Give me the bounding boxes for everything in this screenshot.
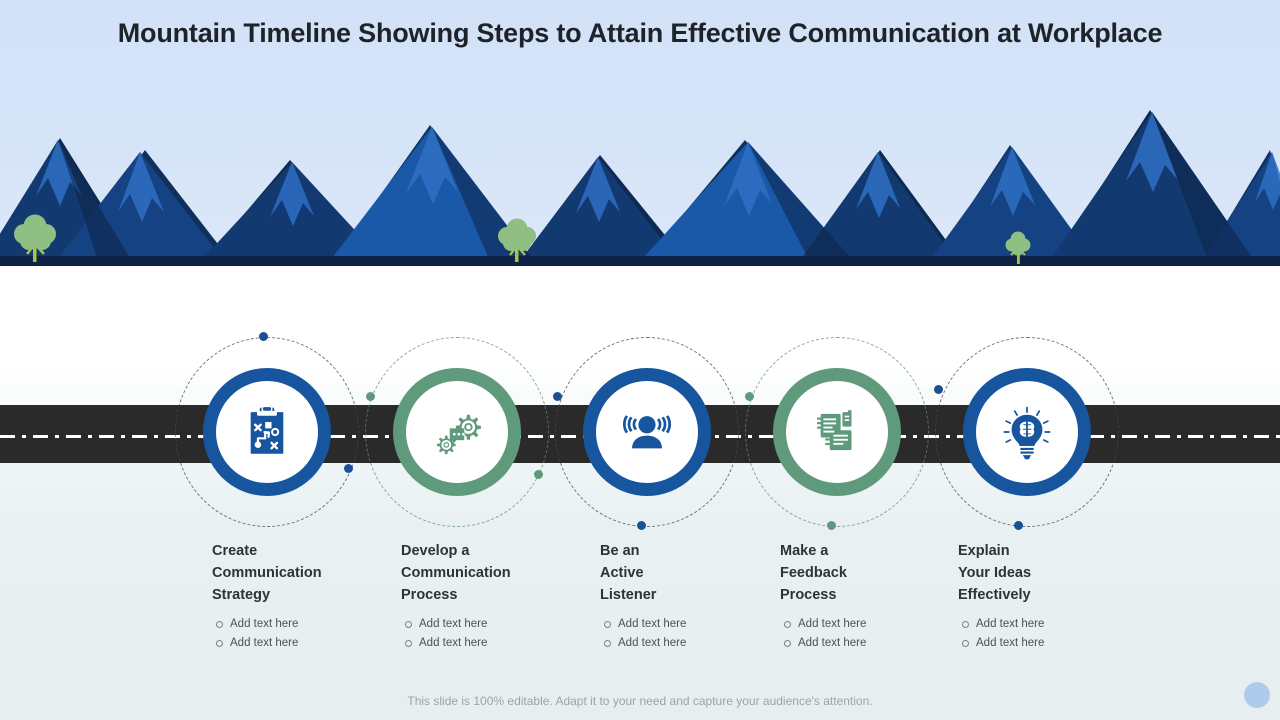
step-bullets-1: Add text here Add text here [212,615,387,652]
step-caption-5: Explain Your Ideas Effectively Add text … [958,540,1133,652]
step-heading-line: Listener [600,587,656,603]
list-item: Add text here [958,615,1133,634]
timeline-node-5[interactable] [963,368,1091,496]
step-heading-line: Create [212,543,257,559]
orbit-dot-1-right [344,464,353,473]
timeline-node-1[interactable] [203,368,331,496]
documents-feedback-icon [808,403,866,461]
step-heading-line: Active [600,565,644,581]
step-heading-5: Explain Your Ideas Effectively [958,540,1133,606]
step-caption-2: Develop a Communication Process Add text… [401,540,576,652]
timeline-node-3[interactable] [583,368,711,496]
step-heading-line: Your Ideas [958,565,1031,581]
step-heading-line: Be an [600,543,640,559]
step-bullets-4: Add text here Add text here [780,615,955,652]
step-heading-4: Make a Feedback Process [780,540,955,606]
step-heading-3: Be an Active Listener [600,540,775,606]
lightbulb-brain-icon [998,403,1056,461]
corner-decoration-dot [1244,682,1270,708]
timeline-node-2[interactable] [393,368,521,496]
step-bullets-5: Add text here Add text here [958,615,1133,652]
orbit-dot-5-left [934,385,943,394]
list-item: Add text here [780,634,955,653]
step-caption-4: Make a Feedback Process Add text here Ad… [780,540,955,652]
list-item: Add text here [212,615,387,634]
step-heading-line: Effectively [958,587,1031,603]
step-heading-line: Develop a [401,543,470,559]
step-caption-1: Create Communication Strategy Add text h… [212,540,387,652]
gears-process-icon [428,403,486,461]
step-heading-2: Develop a Communication Process [401,540,576,606]
list-item: Add text here [401,634,576,653]
step-heading-1: Create Communication Strategy [212,540,387,606]
orbit-dot-5-bottom [1014,521,1023,530]
slide-canvas: Mountain Timeline Showing Steps to Attai… [0,0,1280,720]
list-item: Add text here [958,634,1133,653]
step-heading-line: Communication [212,565,322,581]
step-bullets-3: Add text here Add text here [600,615,775,652]
step-heading-line: Process [401,587,457,603]
step-heading-line: Explain [958,543,1010,559]
orbit-dot-4-bottom [827,521,836,530]
list-item: Add text here [212,634,387,653]
step-caption-3: Be an Active Listener Add text here Add … [600,540,775,652]
list-item: Add text here [780,615,955,634]
footer-note: This slide is 100% editable. Adapt it to… [0,694,1280,708]
orbit-dot-4-left [745,392,754,401]
clipboard-strategy-icon [238,403,296,461]
orbit-dot-2-right [534,470,543,479]
step-heading-line: Process [780,587,836,603]
step-heading-line: Feedback [780,565,847,581]
step-bullets-2: Add text here Add text here [401,615,576,652]
step-heading-line: Strategy [212,587,270,603]
orbit-dot-3-bottom [637,521,646,530]
step-heading-line: Communication [401,565,511,581]
orbit-dot-1-top [259,332,268,341]
step-heading-line: Make a [780,543,828,559]
person-soundwaves-icon [618,403,676,461]
list-item: Add text here [600,634,775,653]
orbit-dot-3-left [553,392,562,401]
list-item: Add text here [600,615,775,634]
list-item: Add text here [401,615,576,634]
timeline-node-4[interactable] [773,368,901,496]
orbit-dot-2-left [366,392,375,401]
